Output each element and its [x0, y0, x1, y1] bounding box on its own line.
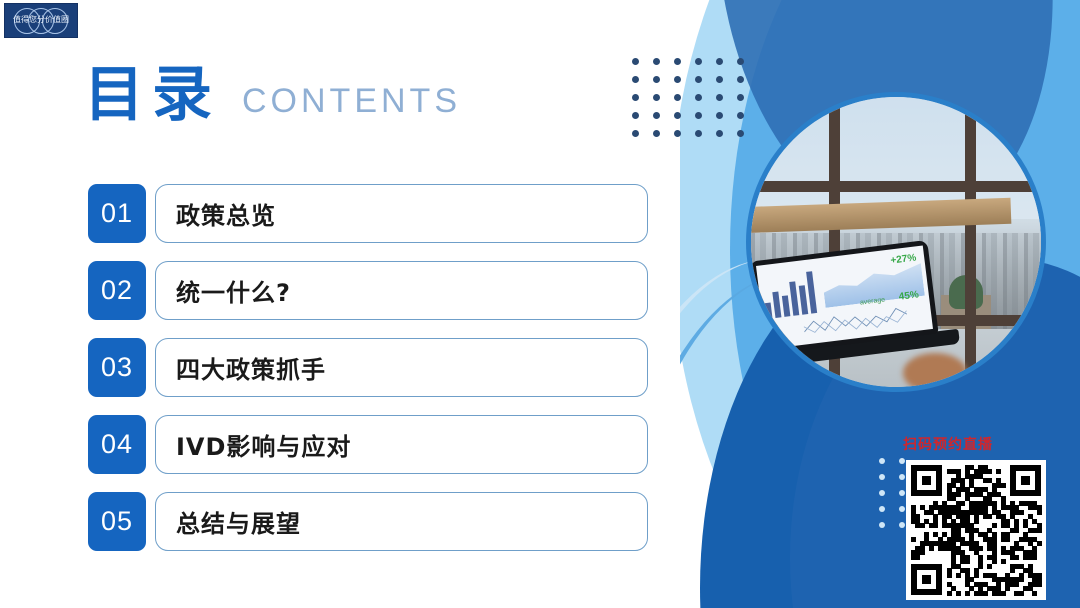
- toc-item-label: IVD影响与应对: [156, 427, 351, 462]
- toc-number-badge: 01: [88, 184, 146, 243]
- toc-item-02[interactable]: 02 统一什么?: [88, 261, 648, 320]
- hero-photo-circle: +27% average 45%: [746, 92, 1046, 392]
- table-of-contents: 01 政策总览 02 统一什么? 03 四大政策抓手 04 IVD影响与应对 0…: [88, 184, 648, 569]
- photo-hand: [903, 353, 967, 392]
- dot-grid-decoration: [632, 58, 758, 148]
- screen-stat-2: 45%: [898, 289, 919, 302]
- toc-number-badge: 05: [88, 492, 146, 551]
- toc-item-label: 统一什么?: [156, 273, 291, 308]
- page-title-en: CONTENTS: [242, 82, 461, 120]
- window-mullion-vertical: [965, 97, 976, 387]
- qr-caption: 扫码预约直播: [903, 434, 1053, 454]
- qr-code-image: [911, 465, 1041, 595]
- qr-code[interactable]: [906, 460, 1046, 600]
- toc-pill[interactable]: 统一什么?: [155, 261, 648, 320]
- toc-item-05[interactable]: 05 总结与展望: [88, 492, 648, 551]
- toc-number-badge: 04: [88, 415, 146, 474]
- toc-item-03[interactable]: 03 四大政策抓手: [88, 338, 648, 397]
- toc-pill[interactable]: IVD影响与应对: [155, 415, 648, 474]
- window-mullion-horizontal: [751, 181, 1041, 192]
- laptop-screen-content: +27% average 45%: [756, 246, 933, 350]
- toc-number-badge: 03: [88, 338, 146, 397]
- toc-pill[interactable]: 四大政策抓手: [155, 338, 648, 397]
- page-title: 目录 CONTENTS: [84, 62, 461, 128]
- qr-finder-bottom-left: [911, 564, 942, 595]
- toc-pill[interactable]: 政策总览: [155, 184, 648, 243]
- toc-item-label: 总结与展望: [156, 504, 301, 539]
- page-title-cn: 目录: [84, 62, 220, 128]
- toc-item-label: 政策总览: [156, 196, 276, 231]
- toc-item-01[interactable]: 01 政策总览: [88, 184, 648, 243]
- toc-pill[interactable]: 总结与展望: [155, 492, 648, 551]
- logo-text: 值得您分价值圈: [5, 15, 77, 24]
- qr-finder-top-left: [911, 465, 942, 496]
- qr-finder-top-right: [1010, 465, 1041, 496]
- toc-item-04[interactable]: 04 IVD影响与应对: [88, 415, 648, 474]
- screen-bar-chart-icon: [761, 265, 822, 319]
- toc-number-badge: 02: [88, 261, 146, 320]
- toc-item-label: 四大政策抓手: [156, 350, 326, 385]
- screen-stat-1: +27%: [890, 252, 917, 266]
- company-logo: 值得您分价值圈: [4, 3, 78, 38]
